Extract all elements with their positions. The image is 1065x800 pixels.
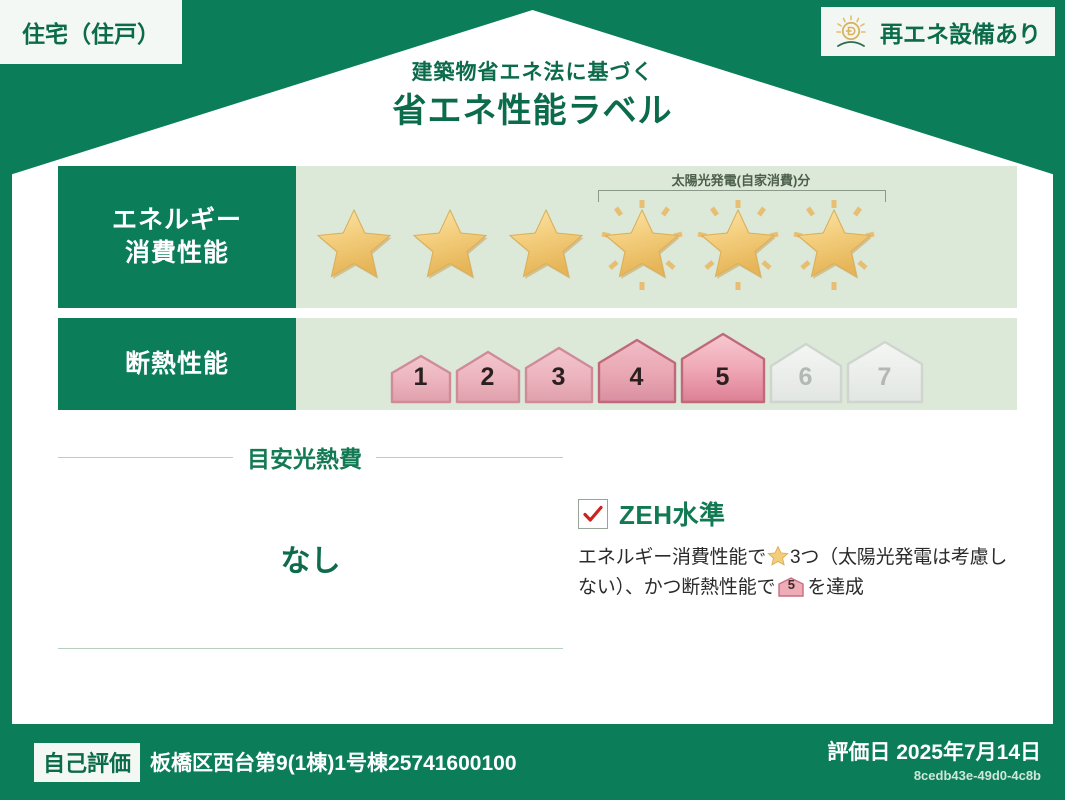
utility-cost-rule-right bbox=[376, 457, 563, 458]
zeh-title: ZEH水準 bbox=[619, 495, 726, 532]
renewable-equipment-badge: 再エネ設備あり bbox=[821, 7, 1055, 56]
page-title: 省エネ性能ラベル bbox=[0, 91, 1065, 132]
insulation-grade-number: 2 bbox=[455, 363, 521, 392]
insulation-performance-value: 1 2 bbox=[296, 318, 1017, 410]
performance-area: エネルギー 消費性能 太陽光発電(自家消費)分 bbox=[58, 166, 1017, 420]
insulation-grade-scale: 1 2 bbox=[296, 332, 1017, 404]
energy-performance-label: エネルギー 消費性能 bbox=[58, 166, 296, 308]
insulation-grade-5: 5 bbox=[680, 332, 766, 404]
renewable-equipment-label: 再エネ設備あり bbox=[880, 15, 1041, 49]
utility-cost-title: 目安光熱費 bbox=[247, 440, 362, 474]
star-icon bbox=[498, 196, 594, 296]
evaluation-date: 評価日 2025年7月14日 bbox=[827, 741, 1041, 765]
insulation-grade-2: 2 bbox=[455, 350, 521, 404]
utility-cost-bottom-rule bbox=[58, 648, 563, 649]
insulation-grade-number: 3 bbox=[524, 363, 594, 392]
insulation-performance-label: 断熱性能 bbox=[58, 318, 296, 410]
energy-performance-label-line1: エネルギー bbox=[112, 204, 242, 237]
footer-right-group: 評価日 2025年7月14日 8cedb43e-49d0-4c8b bbox=[827, 741, 1041, 783]
utility-cost-value: なし bbox=[58, 474, 563, 648]
insulation-grade-inline-number: 5 bbox=[778, 575, 804, 596]
zeh-desc-part1: エネルギー消費性能で bbox=[578, 547, 766, 568]
building-name: 板橋区西台第9(1棟)1号棟25741600100 bbox=[150, 747, 517, 777]
solar-portion-caption: 太陽光発電(自家消費)分 bbox=[596, 170, 886, 189]
insulation-grade-4: 4 bbox=[597, 338, 677, 404]
insulation-grade-number: 1 bbox=[390, 363, 452, 392]
self-evaluation-badge: 自己評価 bbox=[34, 743, 140, 782]
insulation-performance-row: 断熱性能 bbox=[58, 318, 1017, 410]
energy-performance-value: 太陽光発電(自家消費)分 bbox=[296, 166, 1017, 308]
solar-portion-bracket bbox=[598, 190, 886, 202]
zeh-desc-part2: 3つ（太陽光発電 bbox=[790, 547, 932, 568]
utility-cost-section: 目安光熱費 なし bbox=[58, 440, 563, 649]
zeh-checkbox bbox=[578, 499, 608, 529]
solar-sun-icon bbox=[831, 14, 871, 50]
footer-left-group: 自己評価 板橋区西台第9(1棟)1号棟25741600100 bbox=[34, 743, 827, 782]
insulation-grade-number: 6 bbox=[769, 363, 843, 392]
insulation-grade-1: 1 bbox=[390, 354, 452, 404]
insulation-performance-label-text: 断熱性能 bbox=[125, 348, 229, 381]
insulation-grade-number: 7 bbox=[846, 363, 924, 392]
energy-performance-row: エネルギー 消費性能 太陽光発電(自家消費)分 bbox=[58, 166, 1017, 308]
energy-performance-label-line2: 消費性能 bbox=[125, 237, 229, 270]
zeh-desc-part4: を達成 bbox=[807, 577, 863, 598]
insulation-grade-7: 7 bbox=[846, 340, 924, 404]
star-icon bbox=[767, 545, 789, 567]
label-footer: 自己評価 板橋区西台第9(1棟)1号棟25741600100 評価日 2025年… bbox=[0, 724, 1065, 800]
energy-label-root: 住宅（住戸） 再エネ設備あり 建築 bbox=[0, 0, 1065, 800]
insulation-grade-number: 4 bbox=[597, 363, 677, 392]
insulation-grade-inline-badge: 5 bbox=[778, 577, 804, 597]
utility-cost-rule-left bbox=[58, 457, 233, 458]
star-rating bbox=[296, 196, 1017, 296]
star-sparkle-icon bbox=[786, 196, 882, 296]
insulation-grade-3: 3 bbox=[524, 346, 594, 404]
zeh-section: ZEH水準 エネルギー消費性能で 3つ（太陽光発電は考慮しない）、かつ断熱性能で… bbox=[578, 495, 1018, 603]
category-badge: 住宅（住戸） bbox=[0, 0, 182, 64]
insulation-grade-number: 5 bbox=[680, 363, 766, 392]
star-sparkle-icon bbox=[594, 196, 690, 296]
zeh-header: ZEH水準 bbox=[578, 495, 1018, 532]
utility-cost-header: 目安光熱費 bbox=[58, 440, 563, 474]
label-title-group: 建築物省エネ法に基づく 省エネ性能ラベル bbox=[0, 60, 1065, 132]
check-icon bbox=[582, 503, 604, 525]
zeh-description: エネルギー消費性能で 3つ（太陽光発電は考慮しない）、かつ断熱性能で 5 を達成 bbox=[578, 543, 1018, 603]
evaluation-uuid: 8cedb43e-49d0-4c8b bbox=[827, 768, 1041, 783]
star-sparkle-icon bbox=[690, 196, 786, 296]
star-icon bbox=[402, 196, 498, 296]
category-badge-label: 住宅（住戸） bbox=[22, 15, 160, 49]
star-icon bbox=[306, 196, 402, 296]
insulation-grade-6: 6 bbox=[769, 342, 843, 404]
